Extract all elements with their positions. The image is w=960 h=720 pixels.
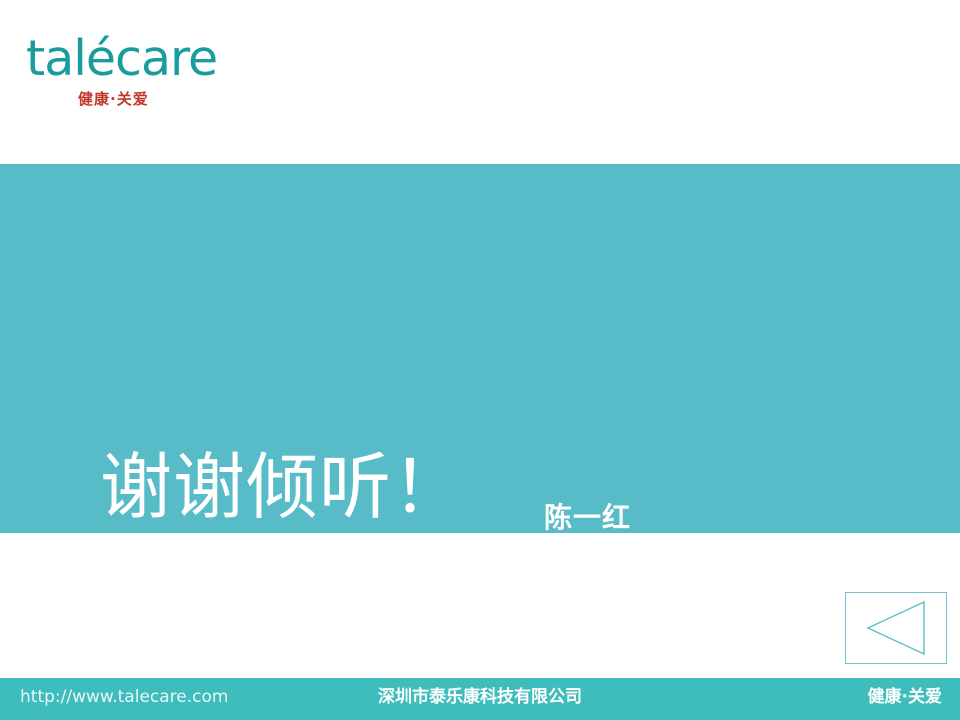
footer-bar: http://www.talecare.com 深圳市泰乐康科技有限公司 健康·…	[0, 678, 960, 720]
logo-tagline: 健康·关爱	[78, 92, 286, 107]
content-band: 谢谢倾听！ 陈一红	[0, 164, 960, 533]
back-button[interactable]	[845, 592, 947, 664]
brand-logo: talécare 健康·关爱	[26, 34, 286, 134]
page-title: 谢谢倾听！	[100, 448, 465, 527]
footer-slogan: 健康·关爱	[868, 689, 942, 706]
slide-canvas: talécare 健康·关爱 谢谢倾听！ 陈一红 http://www.tale…	[0, 0, 960, 720]
footer-company-name: 深圳市泰乐康科技有限公司	[0, 689, 960, 706]
logo-wordmark: talécare	[26, 34, 286, 83]
presenter-name: 陈一红	[544, 504, 631, 532]
triangle-left-icon	[865, 600, 927, 656]
